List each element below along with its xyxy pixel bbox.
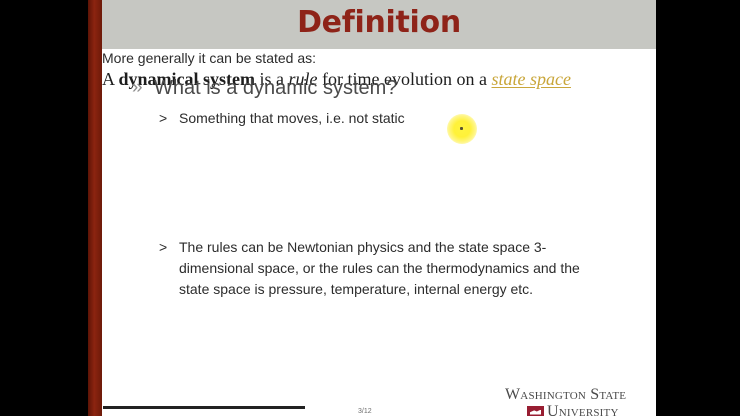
footer-divider: [103, 406, 305, 409]
wsu-logo-line1: Washington State: [505, 386, 626, 404]
bullet-level1-text: What is a dynamic system?: [154, 76, 397, 100]
bullet-level2-second-text: The rules can be Newtonian physics and t…: [179, 237, 589, 300]
bullet-level2-second: > The rules can be Newtonian physics and…: [159, 237, 589, 300]
wsu-logo-line2-row: University: [527, 403, 619, 416]
cougar-mark-icon: [527, 406, 544, 416]
wsu-logo-line2: University: [547, 403, 619, 416]
slide-title-band: Definition: [102, 0, 656, 49]
bullet-level1: » What is a dynamic system?: [132, 76, 397, 100]
bullet-level2-first-text: Something that moves, i.e. not static: [179, 109, 405, 128]
video-player-stage: Definition » What is a dynamic system? >…: [0, 0, 740, 416]
definition-part1: A: [102, 69, 119, 89]
slide-number: 3/12: [358, 408, 372, 415]
wsu-logo: Washington State University: [505, 386, 656, 416]
bullet-arrow-icon: >: [159, 109, 179, 128]
presentation-slide: Definition » What is a dynamic system? >…: [88, 0, 656, 416]
lead-in-paragraph: More generally it can be stated as:: [102, 49, 656, 68]
definition-state-space-link[interactable]: state space: [491, 69, 570, 89]
slide-accent-bar: [88, 0, 102, 416]
bullet-level2-first: > Something that moves, i.e. not static: [159, 109, 405, 128]
bullet-chevron-double-icon: »: [132, 76, 154, 100]
bullet-arrow-icon: >: [159, 237, 179, 258]
slide-content: » What is a dynamic system? > Something …: [102, 49, 656, 416]
slide-title: Definition: [102, 5, 656, 40]
